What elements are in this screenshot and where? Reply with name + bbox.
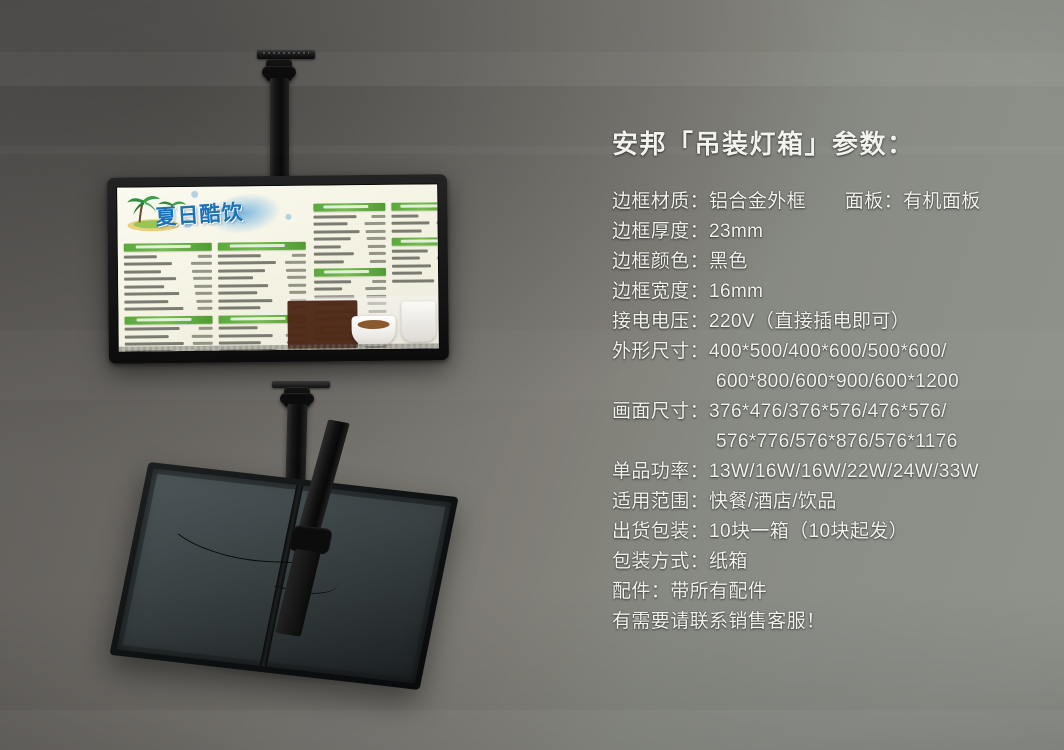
- menu-item-name: [218, 261, 276, 265]
- spec-line: 包装方式：纸箱: [612, 547, 1052, 577]
- menu-item-row: [314, 220, 386, 227]
- coffee-cup-back: [401, 301, 435, 341]
- upper-mount-pole: [270, 78, 289, 182]
- menu-item-row: [314, 228, 386, 235]
- menu-item-price: [438, 264, 439, 267]
- menu-item-name: [314, 260, 344, 263]
- spec-line: 600*800/600*900/600*1200: [612, 367, 1052, 397]
- spec-label: 出货包装：: [612, 521, 709, 542]
- menu-item-price: [369, 252, 386, 255]
- spec-value: 220V（直接插电即可）: [709, 311, 910, 332]
- spec-label: 边框材质：: [612, 191, 709, 212]
- menu-item-row: [218, 274, 306, 281]
- lower-pivot-joint: [280, 393, 314, 404]
- menu-item-name: [392, 279, 434, 282]
- spec-value: 10块一箱（10块起发）: [709, 521, 908, 542]
- menu-section-header: [313, 203, 385, 212]
- spec-value: 400*500/400*600/500*600/: [709, 341, 947, 362]
- screenshot-root: 夏日酷饮: [0, 0, 1064, 750]
- menu-item-price: [195, 292, 212, 295]
- menu-item-row: [391, 212, 438, 219]
- spec-line: 配件：带所有配件: [612, 577, 1052, 607]
- menu-item-row: [124, 283, 212, 290]
- menu-item-name: [124, 300, 168, 303]
- menu-item-name: [124, 277, 176, 281]
- menu-item-row: [314, 243, 386, 250]
- menu-headline: 夏日酷饮: [155, 196, 245, 231]
- menu-item-row: [124, 298, 212, 305]
- spec-value: 黑色: [709, 251, 748, 272]
- menu-item-name: [218, 299, 272, 303]
- menu-item-price: [192, 334, 213, 337]
- menu-item-name: [392, 264, 431, 267]
- menu-item-row: [392, 227, 439, 234]
- product-photo: 夏日酷饮: [0, 0, 520, 750]
- spec-line: 边框颜色：黑色: [612, 247, 1052, 277]
- spec-label: 包装方式：: [612, 551, 709, 572]
- menu-item-price: [365, 287, 386, 290]
- menu-item-name: [218, 291, 257, 294]
- menu-item-price: [198, 254, 212, 257]
- menu-item-name: [392, 271, 422, 274]
- menu-item-row: [124, 290, 212, 297]
- menu-item-row: [124, 253, 212, 260]
- menu-section-header: [314, 268, 386, 277]
- menu-section: [391, 202, 439, 234]
- spec-value: 铝合金外框 面板：有机面板: [709, 191, 981, 212]
- menu-item-row: [392, 247, 439, 254]
- menu-item-name: [218, 269, 265, 272]
- menu-item-row: [314, 285, 386, 292]
- menu-item-price: [191, 262, 212, 265]
- menu-item-name: [124, 262, 172, 266]
- spec-value: 快餐/酒店/饮品: [709, 491, 837, 512]
- menu-item-row: [314, 278, 386, 285]
- menu-item-price: [192, 269, 212, 272]
- menu-item-name: [314, 230, 360, 233]
- spec-label: 接电电压：: [612, 311, 709, 332]
- spec-value: 有需要请联系销售客服！: [612, 611, 825, 632]
- menu-item-row: [124, 268, 212, 275]
- spec-line: 576*776/576*876/576*1176: [612, 427, 1052, 457]
- spec-line: 边框厚度：23mm: [612, 217, 1052, 247]
- menu-item-price: [370, 259, 386, 262]
- menu-item-price: [437, 221, 439, 224]
- menu-item-row: [314, 258, 386, 265]
- coffee-photo: [287, 295, 438, 349]
- upper-pivot-joint: [262, 66, 296, 78]
- water-droplet: [191, 191, 198, 198]
- menu-item-name: [314, 280, 351, 283]
- spec-label: 画面尺寸：: [612, 401, 709, 422]
- menu-column: [124, 243, 213, 352]
- menu-section: [313, 203, 386, 265]
- spec-label: 配件：: [612, 581, 670, 602]
- menu-item-name: [314, 222, 348, 225]
- menu-item-price: [292, 253, 306, 256]
- spec-line: 边框材质：铝合金外框 面板：有机面板: [612, 187, 1052, 217]
- spec-value: 600*800/600*900/600*1200: [716, 371, 959, 392]
- menu-section-header: [391, 202, 439, 211]
- lightbox-front-unit: 夏日酷饮: [107, 174, 449, 364]
- menu-item-name: [124, 255, 157, 258]
- coffee-beans: [287, 300, 357, 349]
- spec-value: 576*776/576*876/576*1176: [716, 431, 958, 452]
- menu-item-price: [287, 276, 306, 279]
- menu-item-price: [193, 277, 212, 280]
- spec-label: 单品功率：: [612, 461, 709, 482]
- menu-item-row: [218, 282, 306, 289]
- spec-line: 单品功率：13W/16W/16W/22W/24W/33W: [612, 457, 1052, 487]
- menu-item-name: [392, 221, 430, 224]
- menu-section-header: [218, 242, 306, 251]
- menu-item-price: [365, 222, 386, 225]
- menu-artwork: 夏日酷饮: [117, 184, 439, 351]
- menu-item-row: [314, 250, 386, 257]
- menu-item-row: [392, 262, 439, 269]
- menu-item-name: [218, 254, 261, 257]
- menu-item-price: [197, 307, 212, 310]
- spec-label: 边框颜色：: [612, 251, 709, 272]
- menu-item-price: [288, 283, 306, 286]
- spec-label: 外形尺寸：: [612, 341, 709, 362]
- menu-item-row: [314, 235, 386, 242]
- spec-line: 出货包装：10块一箱（10块起发）: [612, 517, 1052, 547]
- spec-value: 16mm: [709, 281, 763, 302]
- menu-item-row: [391, 220, 438, 227]
- spec-line: 适用范围：快餐/酒店/饮品: [612, 487, 1052, 517]
- water-droplet: [285, 214, 291, 220]
- menu-item-name: [391, 214, 418, 217]
- spec-value: 376*476/376*576/476*576/: [709, 401, 947, 422]
- menu-item-row: [125, 325, 213, 332]
- menu-item-name: [313, 215, 356, 218]
- menu-item-name: [124, 270, 161, 273]
- menu-section-header: [124, 315, 212, 324]
- menu-item-name: [392, 229, 422, 232]
- menu-item-row: [392, 277, 439, 284]
- spec-line: 接电电压：220V（直接插电即可）: [612, 307, 1052, 337]
- menu-item-price: [372, 279, 386, 282]
- menu-item-name: [219, 326, 258, 329]
- menu-item-price: [196, 299, 212, 302]
- aluminum-bezel: 夏日酷饮: [116, 183, 440, 352]
- menu-item-price: [194, 284, 212, 287]
- menu-item-name: [124, 307, 183, 311]
- menu-item-name: [124, 285, 164, 288]
- menu-item-price: [367, 237, 386, 240]
- menu-item-name: [219, 341, 261, 344]
- menu-item-price: [285, 261, 306, 264]
- menu-item-name: [392, 257, 420, 260]
- lightbox-rear-unit: [109, 462, 458, 690]
- menu-item-name: [314, 287, 342, 290]
- menu-item-row: [218, 259, 306, 266]
- spec-line: 外形尺寸：400*500/400*600/500*600/: [612, 337, 1052, 367]
- spec-value: 23mm: [709, 221, 763, 242]
- menu-item-row: [124, 275, 212, 282]
- menu-column: [391, 202, 439, 288]
- menu-section-header: [392, 237, 439, 246]
- menu-item-name: [314, 252, 354, 255]
- menu-item-price: [289, 291, 306, 294]
- spec-list: 边框材质：铝合金外框 面板：有机面板边框厚度：23mm边框颜色：黑色边框宽度：1…: [612, 187, 1052, 637]
- ceiling-mount-plate: [257, 50, 315, 59]
- coffee-cup-front: [351, 316, 395, 346]
- menu-section-header: [124, 243, 212, 252]
- menu-item-name: [218, 284, 268, 288]
- menu-item-row: [125, 333, 213, 340]
- menu-item-row: [124, 305, 212, 312]
- spec-panel: 安邦「吊装灯箱」参数： 边框材质：铝合金外框 面板：有机面板边框厚度：23mm边…: [612, 124, 1052, 637]
- spec-value: 纸箱: [709, 551, 748, 572]
- menu-section: [392, 237, 439, 284]
- menu-item-price: [371, 214, 385, 217]
- menu-item-name: [219, 334, 273, 338]
- menu-item-row: [392, 270, 439, 277]
- spec-line: 有需要请联系销售客服！: [612, 607, 1052, 637]
- menu-item-row: [313, 213, 385, 220]
- menu-panel: 夏日酷饮: [117, 184, 439, 351]
- menu-item-row: [218, 289, 306, 296]
- menu-item-price: [438, 229, 439, 232]
- menu-item-name: [314, 245, 341, 248]
- menu-headline-art: 夏日酷饮: [121, 188, 302, 242]
- menu-item-name: [124, 292, 179, 296]
- menu-item-name: [392, 249, 428, 252]
- spec-value: 带所有配件: [670, 581, 767, 602]
- menu-item-name: [125, 327, 180, 331]
- spec-title: 安邦「吊装灯箱」参数：: [612, 124, 1052, 161]
- menu-item-name: [218, 276, 253, 279]
- menu-section: [124, 243, 213, 312]
- spec-label: 边框宽度：: [612, 281, 709, 302]
- menu-item-name: [125, 342, 184, 346]
- spec-value: 13W/16W/16W/22W/24W/33W: [709, 461, 979, 482]
- menu-item-price: [366, 229, 386, 232]
- spec-label: 边框厚度：: [612, 221, 709, 242]
- menu-item-name: [125, 335, 169, 338]
- menu-item-row: [218, 267, 306, 274]
- menu-item-price: [368, 244, 386, 247]
- menu-item-name: [314, 237, 351, 240]
- menu-item-price: [286, 268, 306, 271]
- spec-label: 适用范围：: [612, 491, 709, 512]
- menu-item-row: [124, 260, 212, 267]
- menu-item-price: [199, 327, 213, 330]
- menu-item-row: [218, 252, 306, 259]
- menu-item-price: [193, 342, 213, 345]
- menu-item-price: [437, 256, 439, 259]
- spec-line: 画面尺寸：376*476/376*576/476*576/: [612, 397, 1052, 427]
- menu-item-name: [218, 306, 260, 309]
- menu-item-row: [392, 255, 439, 262]
- spec-line: 边框宽度：16mm: [612, 277, 1052, 307]
